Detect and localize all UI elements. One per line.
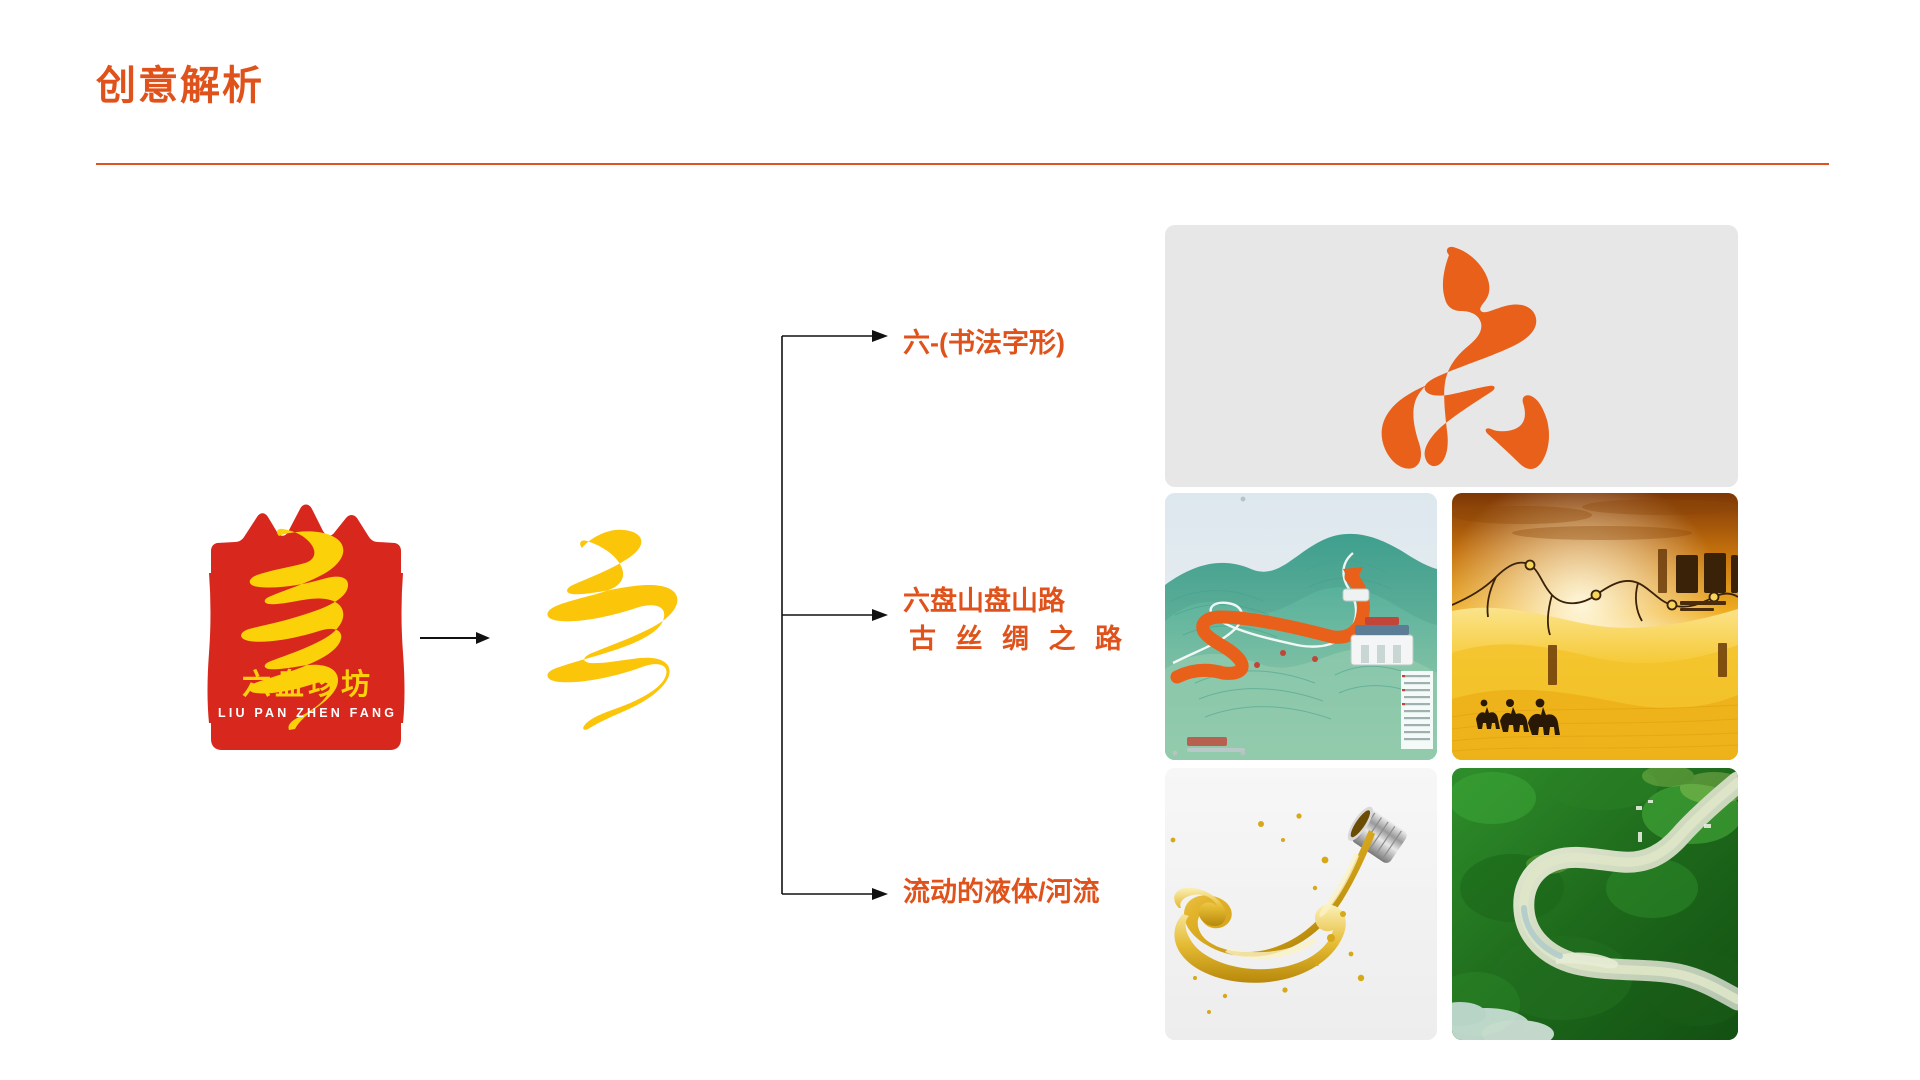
media-card-winding-river[interactable] [1452, 768, 1738, 1040]
title-divider [96, 163, 1829, 165]
desert-silk-road-image [1452, 493, 1738, 760]
logo-pinyin: LIU PAN ZHEN FANG [205, 707, 407, 720]
media-card-calligraphy-panel[interactable] [1165, 225, 1738, 487]
media-card-pouring-oil[interactable] [1165, 768, 1437, 1040]
right-arrow-icon [420, 630, 490, 646]
media-card-mountain-map[interactable] [1165, 493, 1437, 760]
page-title: 创意解析 [96, 66, 264, 106]
calligraphy-liu-glyph-icon [1341, 235, 1581, 477]
aerial-winding-river-image [1452, 768, 1738, 1040]
logo-chinese-name: 六盘珍坊 [205, 671, 407, 700]
bracket-connector-icon [780, 320, 890, 910]
branch-label-road-line2: 古 丝 绸 之 路 [903, 620, 1128, 658]
branch-label-road-line1: 六盘山盘山路 [903, 582, 1128, 620]
brand-logo-badge: 六盘珍坊 LIU PAN ZHEN FANG [205, 503, 407, 755]
branch-label-calligraphy: 六-(书法字形) [903, 324, 1065, 362]
branch-label-road: 六盘山盘山路 古 丝 绸 之 路 [903, 582, 1128, 659]
media-card-silk-road[interactable] [1452, 493, 1738, 760]
branch-label-liquid: 流动的液体/河流 [903, 873, 1100, 911]
gold-calligraphy-mark-icon [540, 528, 720, 733]
pouring-oil-image [1165, 768, 1437, 1040]
illustrated-mountain-map-image [1165, 493, 1437, 760]
